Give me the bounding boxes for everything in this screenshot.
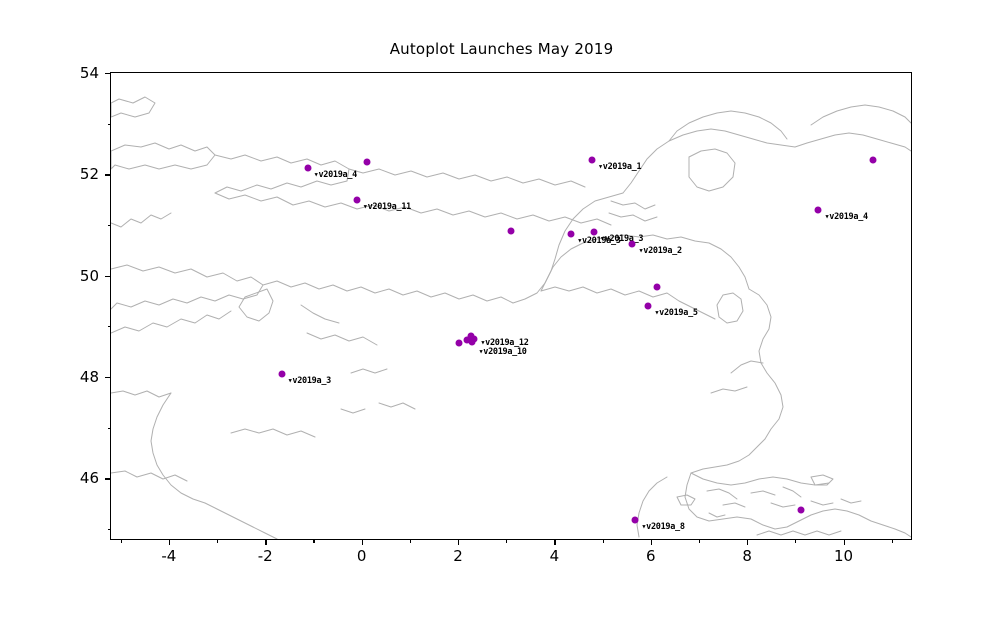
scatter-point[interactable] [508, 228, 515, 235]
scatter-point-label: ▾v2019a_4 [824, 212, 867, 222]
scatter-point[interactable] [870, 157, 877, 164]
x-axis-tick-major [458, 539, 459, 545]
scatter-point-label: ▾v2019a_1 [598, 162, 641, 172]
scatter-point[interactable] [632, 516, 639, 523]
y-axis-tick-label: 52 [80, 165, 99, 183]
x-axis-tick-major [265, 539, 266, 545]
figure-canvas: Autoplot Launches May 2019 [0, 0, 1003, 633]
scatter-point[interactable] [304, 165, 311, 172]
x-axis-tick-minor [313, 539, 314, 543]
scatter-point[interactable] [815, 206, 822, 213]
x-axis-tick-minor [217, 539, 218, 543]
x-axis-tick-label: 6 [646, 547, 656, 565]
x-axis-tick-minor [699, 539, 700, 543]
x-axis-tick-label: 10 [834, 547, 853, 565]
scatter-point[interactable] [653, 283, 660, 290]
x-axis-tick-label: 2 [453, 547, 463, 565]
y-axis-tick-minor [108, 529, 112, 530]
x-axis-tick-label: -4 [161, 547, 176, 565]
x-axis-tick-minor [795, 539, 796, 543]
scatter-point-label: ▾v2019a_10 [478, 347, 526, 357]
y-axis-tick-label: 50 [80, 267, 99, 285]
x-axis-tick-major [651, 539, 652, 545]
y-axis-tick-major [105, 276, 111, 277]
scatter-point-label: ▾v2019a_11 [363, 202, 411, 212]
x-axis-tick-label: 0 [357, 547, 367, 565]
scatter-point[interactable] [455, 340, 462, 347]
y-axis-tick-major [105, 73, 111, 74]
y-axis-tick-label: 54 [80, 64, 99, 82]
scatter-point[interactable] [364, 159, 371, 166]
scatter-point[interactable] [353, 196, 360, 203]
scatter-point-label: ▾v2019a_4 [314, 170, 357, 180]
x-axis-tick-major [169, 539, 170, 545]
scatter-point-label: ▾v2019a_5 [654, 308, 697, 318]
x-axis-tick-label: 4 [550, 547, 560, 565]
x-axis-tick-major [554, 539, 555, 545]
scatter-data-layer: ▾v2019a_4▾v2019a_11▾v2019a_1▾v2019a_4▾v2… [111, 73, 911, 539]
y-axis-tick-minor [108, 326, 112, 327]
y-axis-tick-major [105, 377, 111, 378]
scatter-point[interactable] [568, 231, 575, 238]
scatter-point-label: ▾v2019a_8 [641, 522, 684, 532]
x-axis-tick-label: -2 [258, 547, 273, 565]
x-axis-tick-minor [121, 539, 122, 543]
x-axis-tick-major [844, 539, 845, 545]
scatter-point[interactable] [588, 157, 595, 164]
page-title: Autoplot Launches May 2019 [0, 40, 1003, 58]
scatter-point[interactable] [278, 370, 285, 377]
scatter-point-label: ▾v2019a_2 [638, 246, 681, 256]
x-axis-tick-major [747, 539, 748, 545]
x-axis-tick-minor [892, 539, 893, 543]
scatter-point-label: ▾v2019a_3 [600, 234, 643, 244]
y-axis-tick-minor [108, 428, 112, 429]
scatter-point[interactable] [798, 506, 805, 513]
x-axis-tick-minor [603, 539, 604, 543]
y-axis-tick-label: 46 [80, 469, 99, 487]
scatter-point[interactable] [645, 303, 652, 310]
scatter-point[interactable] [629, 241, 636, 248]
x-axis-tick-minor [506, 539, 507, 543]
x-axis-tick-label: 8 [742, 547, 752, 565]
scatter-point[interactable] [590, 229, 597, 236]
scatter-point[interactable] [463, 337, 470, 344]
y-axis-tick-major [105, 174, 111, 175]
y-axis-tick-minor [108, 225, 112, 226]
plot-axes: ▾v2019a_4▾v2019a_11▾v2019a_1▾v2019a_4▾v2… [110, 72, 912, 540]
y-axis-tick-minor [108, 124, 112, 125]
scatter-point-label: ▾v2019a_3 [288, 376, 331, 386]
y-axis-tick-label: 48 [80, 368, 99, 386]
x-axis-tick-minor [410, 539, 411, 543]
y-axis-tick-major [105, 478, 111, 479]
x-axis-tick-major [362, 539, 363, 545]
